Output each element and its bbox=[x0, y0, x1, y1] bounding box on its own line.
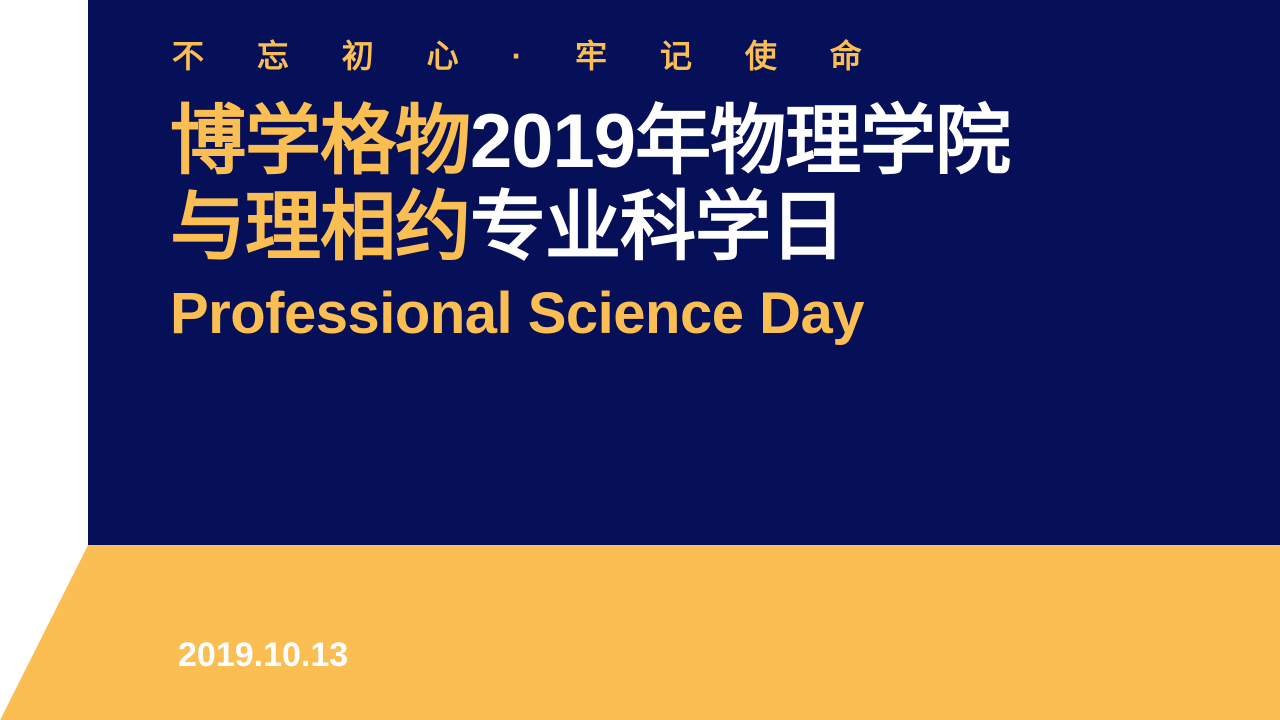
title-line-1: 博学格物2019年物理学院 bbox=[170, 104, 1010, 180]
poster-content: 不 忘 初 心 · 牢 记 使 命 博学格物2019年物理学院 与理相约专业科学… bbox=[0, 0, 1280, 720]
title-line-1-yellow: 博学格物 bbox=[170, 99, 470, 184]
title-english: Professional Science Day bbox=[170, 285, 864, 343]
title-line-1-white: 2019年物理学院 bbox=[470, 99, 1010, 184]
slogan-text: 不 忘 初 心 · 牢 记 使 命 bbox=[172, 40, 884, 72]
title-line-2: 与理相约专业科学日 bbox=[170, 190, 845, 266]
title-line-2-yellow: 与理相约 bbox=[170, 185, 470, 270]
title-line-2-white: 专业科学日 bbox=[470, 185, 845, 270]
event-date: 2019.10.13 bbox=[178, 638, 348, 672]
poster-slide: 不 忘 初 心 · 牢 记 使 命 博学格物2019年物理学院 与理相约专业科学… bbox=[0, 0, 1280, 720]
